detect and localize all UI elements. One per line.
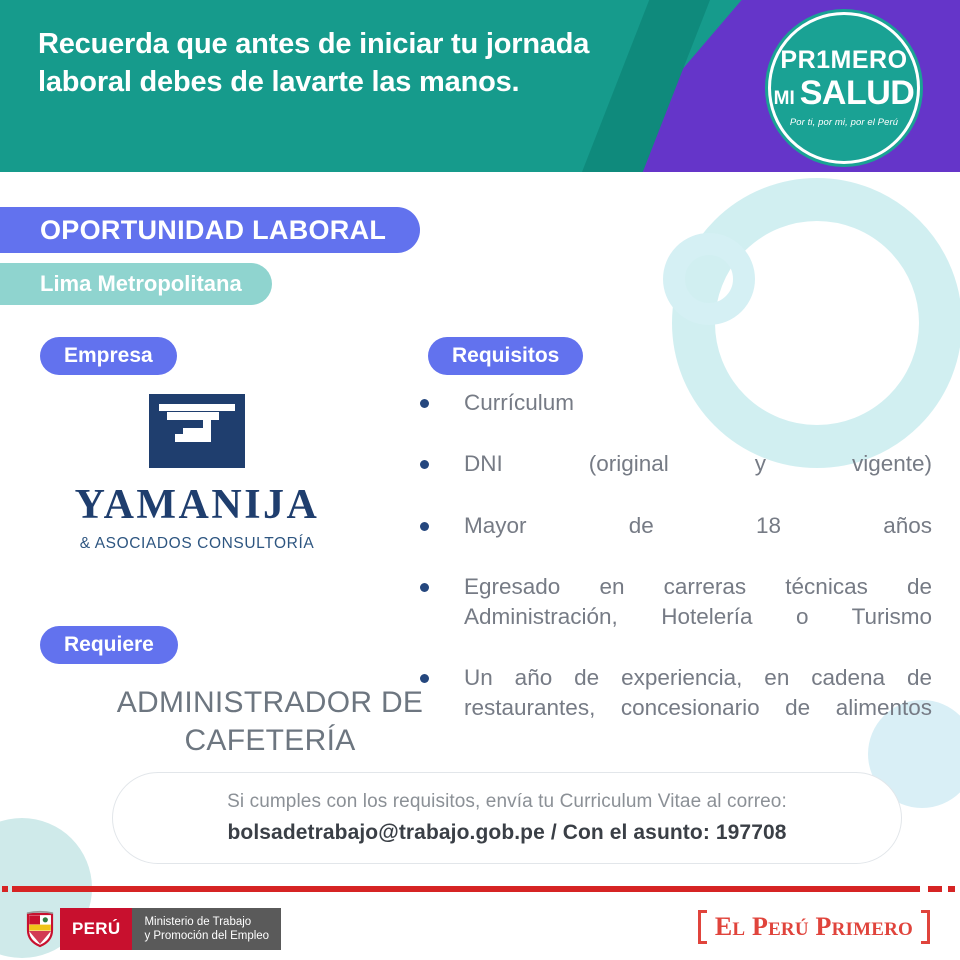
rule-dash <box>928 886 942 892</box>
badge-mi-text: MI <box>774 89 795 108</box>
badge-primero-text: PR1MERO <box>780 48 907 73</box>
puesto-line-1: ADMINISTRADOR DE <box>60 684 480 722</box>
contact-instruction: Si cumples con los requisitos, envía tu … <box>227 791 787 813</box>
bullet-icon <box>420 572 464 661</box>
ministerio-label: Ministerio de Trabajo y Promoción del Em… <box>132 908 281 950</box>
badge-salud-text: SALUD <box>800 76 915 110</box>
banner-location-text: Lima Metropolitana <box>40 271 242 297</box>
rule-main <box>20 886 920 892</box>
puesto-title: ADMINISTRADOR DE CAFETERÍA <box>60 684 480 760</box>
list-item: Un año de experiencia, en cadena de rest… <box>420 663 932 752</box>
company-tagline: & ASOCIADOS CONSULTORÍA <box>80 535 315 553</box>
badge-tagline: Por ti, por mi, por el Perú <box>790 117 898 128</box>
requisito-text: Currículum <box>464 388 932 447</box>
banner-title-pill: OPORTUNIDAD LABORAL <box>0 207 420 253</box>
banner-location-pill: Lima Metropolitana <box>0 263 272 305</box>
company-name: YAMANIJA <box>75 484 320 526</box>
bracket-right-icon <box>921 910 930 944</box>
contact-email-line: bolsadetrabajo@trabajo.gob.pe / Con el a… <box>227 821 786 845</box>
el-peru-primero-logo: EL PERÚ PRIMERO <box>698 910 930 944</box>
contact-box: Si cumples con los requisitos, envía tu … <box>112 772 902 864</box>
peru-coat-of-arms-icon <box>20 908 60 950</box>
peru-label: PERÚ <box>60 908 132 950</box>
empresa-label-pill: Empresa <box>40 337 177 375</box>
job-posting-poster: Recuerda que antes de iniciar tu jornada… <box>0 0 960 960</box>
requisitos-label-pill: Requisitos <box>428 337 583 375</box>
rule-dash <box>948 886 955 892</box>
requiere-label-text: Requiere <box>64 633 154 657</box>
requisitos-list: Currículum DNI (original y vigente) Mayo… <box>420 388 932 754</box>
footer-red-rule <box>0 886 960 892</box>
requisitos-label-text: Requisitos <box>452 344 559 368</box>
decorative-ring-small <box>663 233 755 325</box>
el-peru-primero-text: EL PERÚ PRIMERO <box>715 912 913 942</box>
list-item: Mayor de 18 años <box>420 511 932 570</box>
bullet-icon <box>420 511 464 570</box>
requisito-text: Mayor de 18 años <box>464 511 932 570</box>
requisito-text: Un año de experiencia, en cadena de rest… <box>464 663 932 752</box>
empresa-label-text: Empresa <box>64 344 153 368</box>
list-item: DNI (original y vigente) <box>420 449 932 508</box>
bullet-icon <box>420 449 464 508</box>
ministerio-line-1: Ministerio de Trabajo <box>144 915 269 929</box>
header-message: Recuerda que antes de iniciar tu jornada… <box>38 26 598 101</box>
badge-mi-salud-row: MI SALUD <box>774 76 915 110</box>
primero-mi-salud-badge: PR1MERO MI SALUD Por ti, por mi, por el … <box>768 12 920 164</box>
list-item: Currículum <box>420 388 932 447</box>
requisito-text: Egresado en carreras técnicas de Adminis… <box>464 572 932 661</box>
company-block: YAMANIJA & ASOCIADOS CONSULTORÍA <box>22 392 372 553</box>
banner-title-text: OPORTUNIDAD LABORAL <box>40 215 386 246</box>
bracket-left-icon <box>698 910 707 944</box>
puesto-line-2: CAFETERÍA <box>60 722 480 760</box>
list-item: Egresado en carreras técnicas de Adminis… <box>420 572 932 661</box>
ministry-logo-block: PERÚ Ministerio de Trabajo y Promoción d… <box>20 908 281 950</box>
labyrinth-spiral-logo-icon <box>145 392 249 470</box>
requisito-text: DNI (original y vigente) <box>464 449 932 508</box>
requiere-label-pill: Requiere <box>40 626 178 664</box>
ministerio-line-2: y Promoción del Empleo <box>144 929 269 943</box>
rule-dash <box>2 886 8 892</box>
bullet-icon <box>420 388 464 447</box>
